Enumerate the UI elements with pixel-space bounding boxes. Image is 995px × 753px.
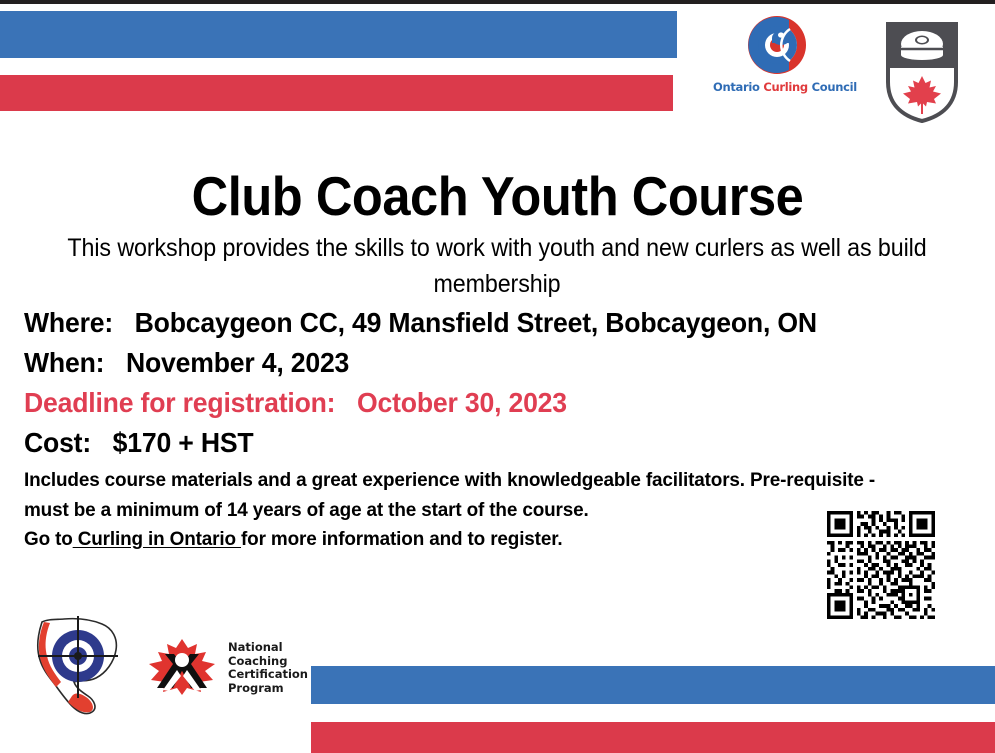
occ-wordmark: Ontario Curling Council [713, 80, 843, 94]
curling-in-ontario-link[interactable]: Curling in Ontario [73, 528, 241, 550]
ontario-curling-association-logo [28, 608, 124, 722]
detail-value-where: Bobcaygeon CC, 49 Mansfield Street, Bobc… [135, 307, 817, 338]
curling-house-c-icon [737, 14, 817, 76]
detail-value-when: November 4, 2023 [126, 347, 349, 378]
occ-word-ontario: Ontario [713, 80, 760, 94]
poster-subtitle: This workshop provides the skills to wor… [55, 230, 939, 302]
detail-value-deadline: October 30, 2023 [357, 387, 567, 418]
detail-line-where: Where: Bobcaygeon CC, 49 Mansfield Stree… [24, 303, 917, 343]
national-coaching-certification-program-logo: National Coaching Certification Program [143, 638, 303, 700]
decorative-stripe-top-red [0, 75, 673, 111]
ontario-curling-council-logo: Ontario Curling Council [713, 14, 843, 98]
detail-label-where: Where: [24, 307, 113, 338]
detail-line-when: When: November 4, 2023 [24, 343, 917, 383]
detail-label-when: When: [24, 347, 104, 378]
event-details: Where: Bobcaygeon CC, 49 Mansfield Stree… [24, 303, 964, 463]
detail-label-cost: Cost: [24, 427, 91, 458]
detail-label-deadline: Deadline for registration: [24, 387, 335, 418]
curling-canada-shield-logo [884, 20, 960, 125]
fine-print-block: Includes course materials and a great ex… [24, 466, 912, 555]
top-edge-bar [0, 0, 995, 4]
poster-title: Club Coach Youth Course [40, 163, 955, 229]
detail-line-deadline: Deadline for registration: October 30, 2… [24, 383, 917, 423]
decorative-stripe-bottom-blue [311, 666, 995, 704]
fine-print-goto-prefix: Go to [24, 528, 73, 550]
fine-print-paragraph: Includes course materials and a great ex… [24, 469, 875, 521]
detail-line-cost: Cost: $170 + HST [24, 423, 917, 463]
nccp-wordmark: National Coaching Certification Program [228, 641, 308, 695]
fine-print-goto-suffix: for more information and to register. [241, 528, 562, 550]
detail-value-cost: $170 + HST [113, 427, 254, 458]
nccp-maple-figure-icon [143, 638, 221, 696]
decorative-stripe-top-blue [0, 11, 677, 58]
decorative-stripe-bottom-red [311, 722, 995, 753]
registration-qr-code[interactable] [827, 511, 935, 619]
occ-word-curling: Curling [763, 80, 808, 94]
occ-word-council: Council [812, 80, 857, 94]
